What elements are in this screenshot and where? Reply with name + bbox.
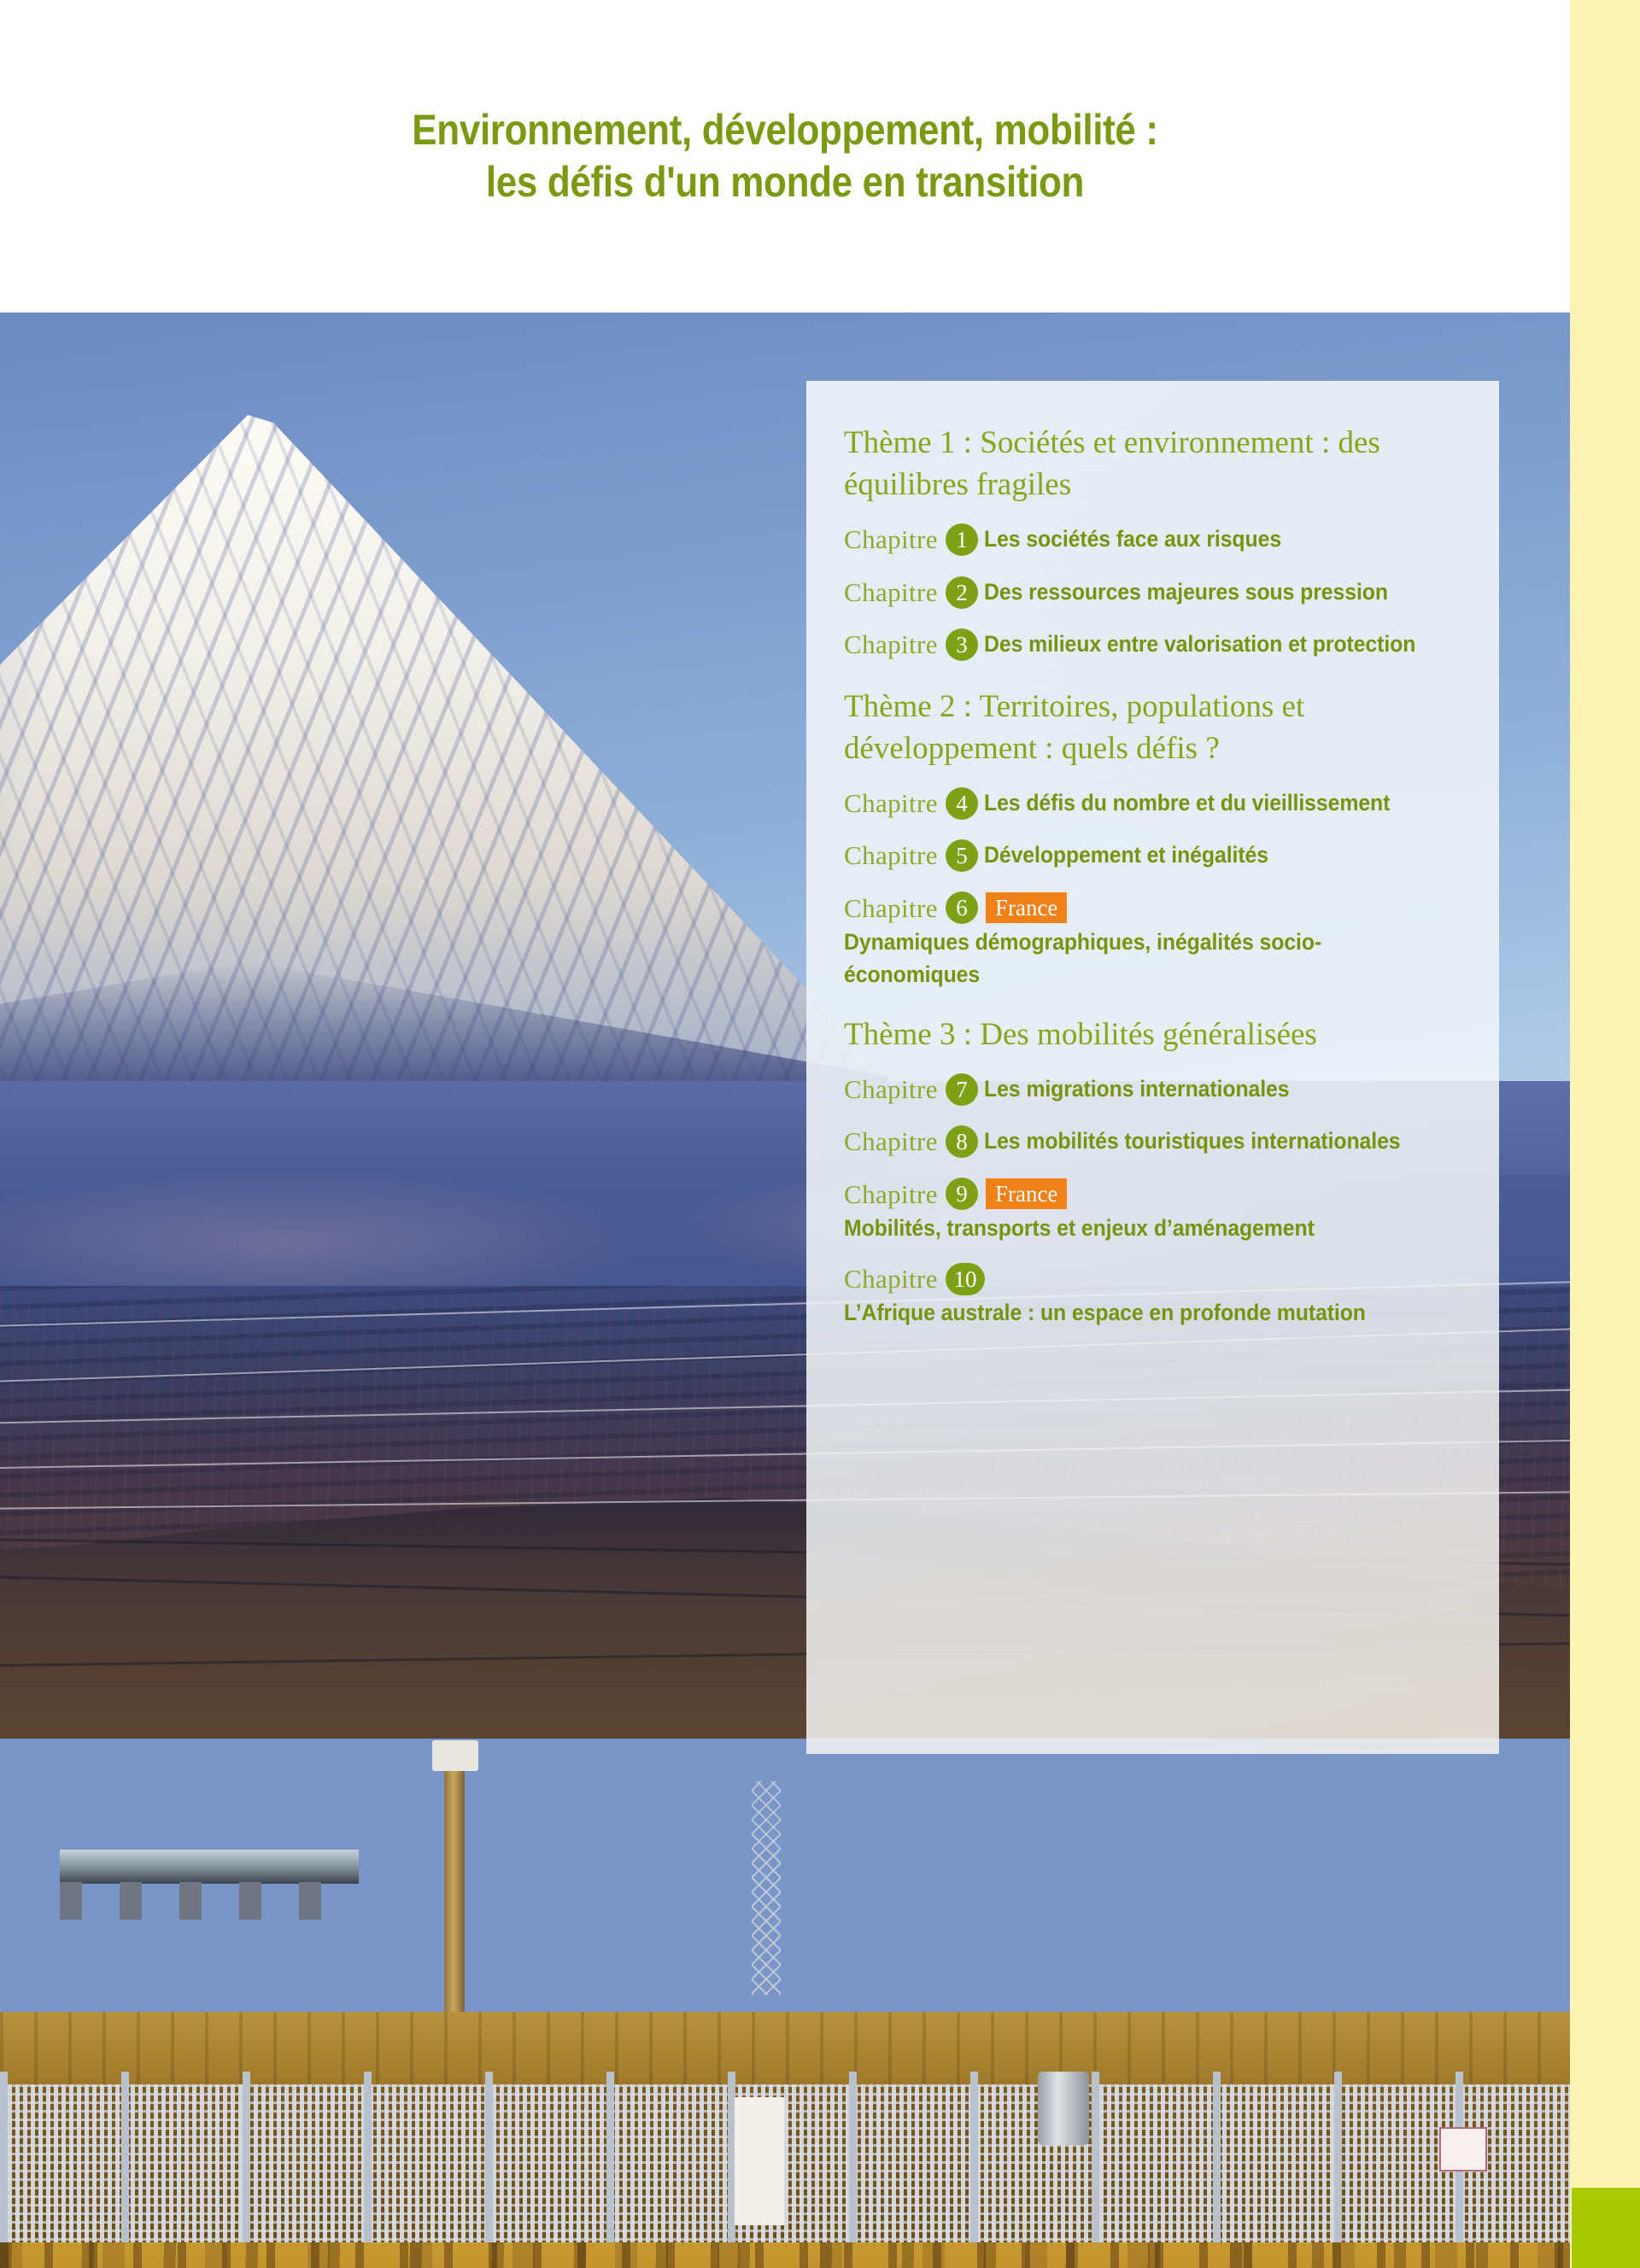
chapter-number-badge: 6 bbox=[946, 891, 978, 924]
page-title-line-2: les défis d'un monde en transition bbox=[259, 156, 1311, 208]
chapitre-label: Chapitre bbox=[844, 1264, 938, 1294]
chapter-number-badge: 1 bbox=[946, 523, 978, 556]
france-badge: France bbox=[986, 1178, 1067, 1209]
cylindrical-tank bbox=[1038, 2072, 1089, 2145]
chapter-title: Les migrations internationales bbox=[984, 1073, 1290, 1106]
france-badge: France bbox=[986, 892, 1067, 923]
chapter-row[interactable]: Chapitre2Des ressources majeures sous pr… bbox=[844, 574, 1467, 611]
page-header: Environnement, développement, mobilité :… bbox=[0, 0, 1570, 313]
chapter-number-badge: 2 bbox=[946, 576, 978, 609]
chapter-row[interactable]: Chapitre1Les sociétés face aux risques bbox=[844, 521, 1467, 558]
theme-block: Thème 3 : Des mobilités généraliséesChap… bbox=[844, 1014, 1467, 1330]
chapitre-label: Chapitre bbox=[844, 840, 938, 870]
viaduct-bridge bbox=[60, 1850, 359, 1884]
theme-heading: Thème 1 : Sociétés et environnement : de… bbox=[844, 422, 1467, 506]
transmission-pylon bbox=[752, 1781, 781, 1995]
chapter-title: Des milieux entre valorisation et protec… bbox=[984, 628, 1415, 661]
chapter-number-badge: 10 bbox=[946, 1263, 985, 1295]
page-root: Environnement, développement, mobilité :… bbox=[0, 0, 1640, 2268]
chapitre-label: Chapitre bbox=[844, 1074, 938, 1104]
chapitre-label: Chapitre bbox=[844, 577, 938, 607]
chapitre-label: Chapitre bbox=[844, 1126, 938, 1156]
chapter-row[interactable]: Chapitre4Les défis du nombre et du vieil… bbox=[844, 785, 1467, 821]
chapter-row[interactable]: Chapitre9FranceMobilités, transports et … bbox=[844, 1176, 1467, 1245]
concrete-embankment-streaks bbox=[0, 2242, 1570, 2268]
chapitre-label: Chapitre bbox=[844, 893, 938, 923]
chapter-row[interactable]: Chapitre7Les migrations internationales bbox=[844, 1071, 1467, 1108]
utility-pole-head bbox=[432, 1740, 478, 1771]
chapter-number-badge: 9 bbox=[946, 1178, 978, 1210]
chapter-number-badge: 7 bbox=[946, 1073, 978, 1106]
fence-sign bbox=[735, 2097, 784, 2225]
chapter-title: Des ressources majeures sous pression bbox=[984, 576, 1388, 609]
chapter-title: Les sociétés face aux risques bbox=[984, 523, 1281, 556]
theme-block: Thème 2 : Territoires, populations et dé… bbox=[844, 686, 1467, 991]
chapter-row[interactable]: Chapitre8Les mobilités touristiques inte… bbox=[844, 1123, 1467, 1160]
chapter-number-badge: 5 bbox=[946, 839, 978, 872]
utility-pole bbox=[444, 1756, 465, 2037]
chapitre-label: Chapitre bbox=[844, 788, 938, 818]
bottom-right-green-block bbox=[1572, 2188, 1640, 2268]
chapter-number-badge: 4 bbox=[946, 787, 978, 820]
chapter-title: Développement et inégalités bbox=[984, 839, 1268, 872]
viaduct-piers bbox=[60, 1882, 359, 1920]
chapter-number-badge: 3 bbox=[946, 628, 978, 661]
theme-heading: Thème 3 : Des mobilités généralisées bbox=[844, 1014, 1467, 1055]
page-title: Environnement, développement, mobilité :… bbox=[259, 104, 1311, 208]
chapter-title: Les défis du nombre et du vieillissement bbox=[984, 787, 1390, 820]
chapitre-label: Chapitre bbox=[844, 1179, 938, 1209]
chapter-row[interactable]: Chapitre3Des milieux entre valorisation … bbox=[844, 626, 1467, 663]
chapter-title: L’Afrique australe : un espace en profon… bbox=[844, 1297, 1366, 1330]
chapter-row[interactable]: Chapitre5Développement et inégalités bbox=[844, 837, 1467, 874]
theme-block: Thème 1 : Sociétés et environnement : de… bbox=[844, 422, 1467, 663]
chapter-row[interactable]: Chapitre6FranceDynamiques démographiques… bbox=[844, 890, 1467, 991]
chapter-row[interactable]: Chapitre10L’Afrique australe : un espace… bbox=[844, 1260, 1467, 1330]
fence-posts bbox=[0, 2072, 1570, 2268]
chapter-number-badge: 8 bbox=[946, 1125, 978, 1158]
chapitre-label: Chapitre bbox=[844, 524, 938, 554]
theme-heading: Thème 2 : Territoires, populations et dé… bbox=[844, 686, 1467, 769]
page-title-line-1: Environnement, développement, mobilité : bbox=[259, 104, 1311, 156]
chapter-title: Dynamiques démographiques, inégalités so… bbox=[844, 926, 1417, 991]
chapitre-label: Chapitre bbox=[844, 629, 938, 659]
chapter-title: Les mobilités touristiques international… bbox=[984, 1125, 1401, 1158]
chapter-title: Mobilités, transports et enjeux d’aménag… bbox=[844, 1213, 1315, 1245]
fence-warning-sign bbox=[1439, 2127, 1487, 2172]
right-yellow-strip bbox=[1570, 0, 1640, 2268]
table-of-contents-panel: Thème 1 : Sociétés et environnement : de… bbox=[806, 381, 1499, 1754]
